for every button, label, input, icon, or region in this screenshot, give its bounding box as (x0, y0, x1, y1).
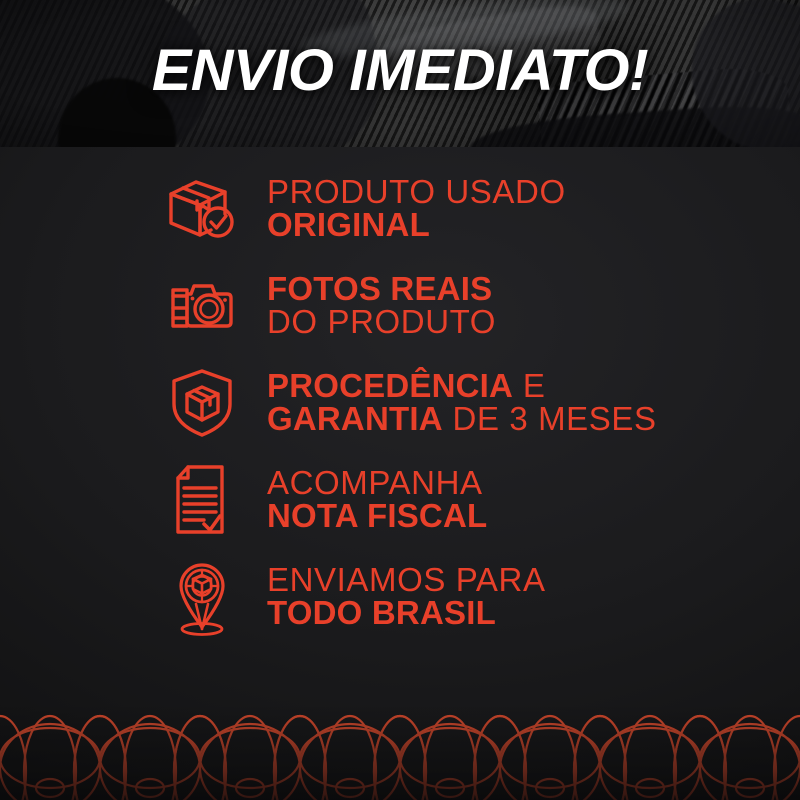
feature-item-fotos-reais: FOTOS REAIS DO PRODUTO (0, 257, 800, 354)
feature-line-2: ORIGINAL (267, 209, 566, 242)
shield-box-icon (163, 364, 241, 442)
feature-line-2: NOTA FISCAL (267, 500, 487, 533)
feature-line-1: ENVIAMOS PARA (267, 564, 546, 597)
feature-line-1-light: E (513, 367, 545, 404)
promo-banner: ENVIO IMEDIATO! PRODUTO USADO ORIGINAL (0, 0, 800, 800)
feature-text: ENVIAMOS PARA TODO BRASIL (267, 564, 546, 629)
feature-line-1: PROCEDÊNCIA E (267, 370, 657, 403)
feature-line-2-bold: GARANTIA (267, 400, 443, 437)
feature-line-2: TODO BRASIL (267, 597, 546, 630)
feature-line-1: FOTOS REAIS (267, 273, 496, 306)
invoice-document-icon (163, 461, 241, 539)
feature-text: ACOMPANHA NOTA FISCAL (267, 467, 487, 532)
feature-list: PRODUTO USADO ORIGINAL FOTOS REAIS DO (0, 160, 800, 645)
feature-line-2: DO PRODUTO (267, 306, 496, 339)
feature-text: PROCEDÊNCIA E GARANTIA DE 3 MESES (267, 370, 657, 435)
box-check-icon (163, 170, 241, 248)
feature-text: PRODUTO USADO ORIGINAL (267, 176, 566, 241)
feature-line-1-bold: PROCEDÊNCIA (267, 367, 513, 404)
feature-line-2: GARANTIA DE 3 MESES (267, 403, 657, 436)
feature-line-2-light: DE 3 MESES (443, 400, 657, 437)
camera-icon (163, 267, 241, 345)
feature-line-1: PRODUTO USADO (267, 176, 566, 209)
location-pin-box-icon (163, 558, 241, 636)
feature-item-nota-fiscal: ACOMPANHA NOTA FISCAL (0, 451, 800, 548)
feature-text: FOTOS REAIS DO PRODUTO (267, 273, 496, 338)
feature-item-produto-original: PRODUTO USADO ORIGINAL (0, 160, 800, 257)
page-title: ENVIO IMEDIATO! (0, 42, 800, 100)
header-banner: ENVIO IMEDIATO! (0, 0, 800, 147)
floral-lattice-border (0, 710, 800, 800)
feature-line-1: ACOMPANHA (267, 467, 487, 500)
feature-item-todo-brasil: ENVIAMOS PARA TODO BRASIL (0, 548, 800, 645)
feature-item-procedencia-garantia: PROCEDÊNCIA E GARANTIA DE 3 MESES (0, 354, 800, 451)
